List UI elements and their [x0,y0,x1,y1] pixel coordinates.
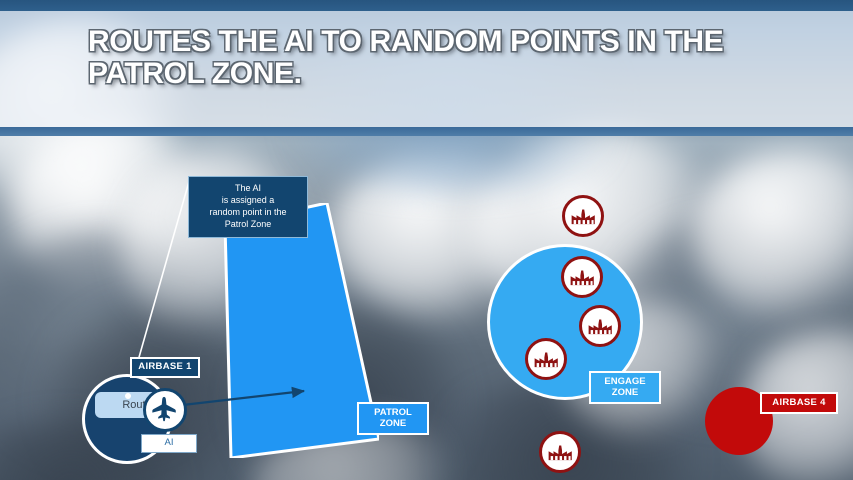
callout-line-2: is assigned a [189,195,307,207]
label-patrol-zone-line-2: ZONE [374,419,412,430]
patrol-zone-polygon[interactable] [207,203,379,458]
label-ai[interactable]: AI [141,434,197,453]
enemy-factory-icon [569,264,595,290]
label-airbase-4[interactable]: AIRBASE 4 [760,392,838,414]
top-accent-bar [0,0,853,11]
enemy-factory-icon [533,346,559,372]
label-airbase-1[interactable]: AIRBASE 1 [130,357,200,378]
fighter-jet-icon [150,395,180,425]
label-engage-zone-line-1: ENGAGE [604,377,645,388]
enemy-marker[interactable] [579,305,621,347]
callout-line-1: The AI [189,183,307,195]
enemy-marker[interactable] [539,431,581,473]
enemy-marker[interactable] [525,338,567,380]
label-engage-zone[interactable]: ENGAGE ZONE [589,371,661,404]
enemy-marker[interactable] [562,195,604,237]
enemy-factory-icon [587,313,613,339]
label-patrol-zone-line-1: PATROL [374,408,412,419]
callout-line-4: Patrol Zone [189,219,307,231]
label-engage-zone-line-2: ZONE [604,388,645,399]
header-bottom-rule [0,127,853,136]
callout-anchor-dot [125,393,131,399]
callout-box: The AI is assigned a random point in the… [188,176,308,238]
enemy-factory-icon [547,439,573,465]
callout-line-3: random point in the [189,207,307,219]
enemy-marker[interactable] [561,256,603,298]
slide-canvas: ROUTES THE AI TO RANDOM POINTS IN THE PA… [0,0,853,480]
label-patrol-zone[interactable]: PATROL ZONE [357,402,429,435]
ai-jet-marker[interactable] [143,388,187,432]
enemy-factory-icon [570,203,596,229]
page-title: ROUTES THE AI TO RANDOM POINTS IN THE PA… [88,26,788,91]
